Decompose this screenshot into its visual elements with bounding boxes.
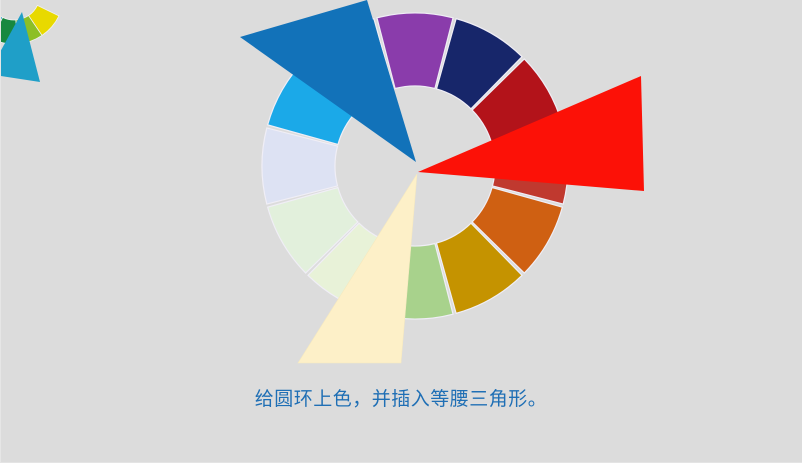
corner-color-wheel (0, 5, 59, 82)
slide-canvas-root: 给圆环上色，并插入等腰三角形。 (0, 0, 802, 463)
caption-text: 给圆环上色，并插入等腰三角形。 (0, 386, 802, 412)
